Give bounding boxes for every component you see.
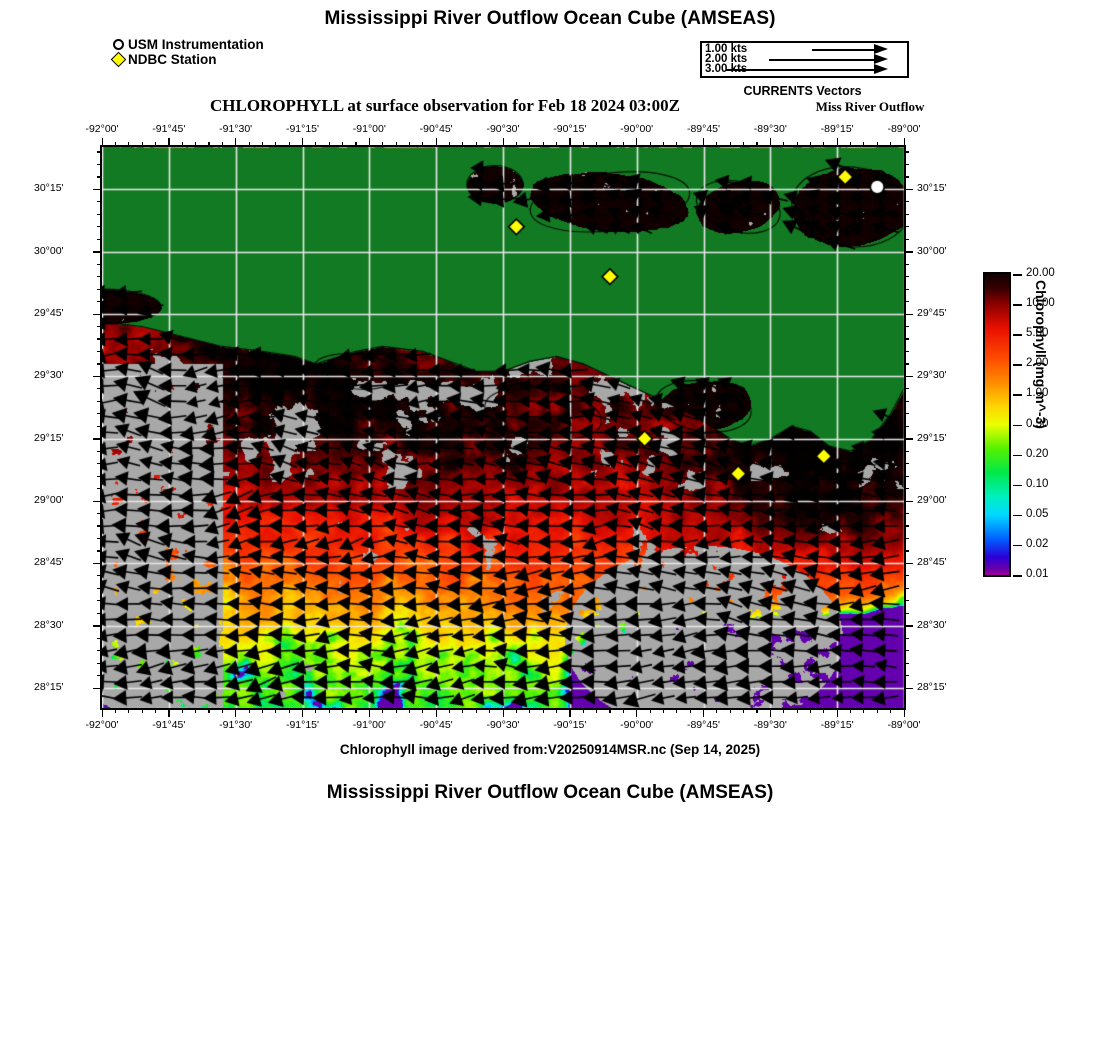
y-axis-minor-tick: [97, 675, 102, 676]
x-axis-minor-tick: [730, 708, 731, 713]
x-axis-label-bottom: -89°15': [807, 719, 867, 731]
x-axis-label-bottom: -91°45': [139, 719, 199, 731]
y-axis-minor-tick: [904, 426, 909, 427]
y-axis-minor-tick: [97, 451, 102, 452]
x-axis-minor-tick: [810, 708, 811, 713]
x-axis-label-bottom: -89°30': [740, 719, 800, 731]
x-axis-minor-tick: [823, 708, 824, 713]
y-axis-minor-tick: [904, 164, 909, 165]
x-axis-major-tick: [168, 138, 169, 147]
x-axis-major-tick: [102, 138, 103, 147]
x-axis-major-tick: [703, 138, 704, 147]
page-title-bottom: Mississippi River Outflow Ocean Cube (AM…: [0, 782, 1100, 804]
x-axis-major-tick: [837, 138, 838, 147]
y-axis-minor-tick: [904, 276, 909, 277]
y-axis-minor-tick: [904, 239, 909, 240]
y-axis-minor-tick: [904, 588, 909, 589]
currents-key-arrowhead: [874, 54, 888, 64]
x-axis-minor-tick: [556, 142, 557, 147]
y-axis-minor-tick: [97, 363, 102, 364]
x-axis-major-tick: [102, 708, 103, 717]
y-axis-minor-tick: [904, 663, 909, 664]
currents-key-row: 3.00 kts: [702, 64, 907, 75]
x-axis-label-top: -91°15': [273, 123, 333, 135]
y-axis-minor-tick: [904, 613, 909, 614]
x-axis-label-top: -90°45': [406, 123, 466, 135]
colorbar-tick: [1013, 455, 1022, 457]
x-axis-minor-tick: [890, 142, 891, 147]
x-axis-label-top: -92°00': [72, 123, 132, 135]
x-axis-label-bottom: -91°00': [339, 719, 399, 731]
x-axis-minor-tick: [823, 142, 824, 147]
x-axis-label-bottom: -90°15': [540, 719, 600, 731]
x-axis-label-top: -90°00': [607, 123, 667, 135]
map-plot-area[interactable]: [100, 145, 906, 710]
y-axis-major-tick: [93, 501, 102, 502]
x-axis-minor-tick: [850, 142, 851, 147]
y-axis-major-tick: [904, 189, 913, 190]
y-axis-minor-tick: [904, 650, 909, 651]
x-axis-minor-tick: [262, 708, 263, 713]
y-axis-minor-tick: [97, 201, 102, 202]
y-axis-minor-tick: [904, 513, 909, 514]
x-axis-minor-tick: [195, 708, 196, 713]
legend-label-usm: USM Instrumentation: [128, 37, 264, 52]
x-axis-major-tick: [569, 708, 570, 717]
y-axis-minor-tick: [904, 413, 909, 414]
colorbar-tick-label: 20.00: [1026, 267, 1055, 279]
x-axis-minor-tick: [142, 708, 143, 713]
y-axis-minor-tick: [904, 226, 909, 227]
x-axis-minor-tick: [275, 708, 276, 713]
y-axis-major-tick: [93, 376, 102, 377]
x-axis-minor-tick: [115, 142, 116, 147]
x-axis-minor-tick: [382, 142, 383, 147]
colorbar-tick: [1013, 515, 1022, 517]
colorbar-tick-label: 0.01: [1026, 568, 1048, 580]
y-axis-minor-tick: [904, 600, 909, 601]
x-axis-minor-tick: [262, 142, 263, 147]
y-axis-label-right: 29°45': [917, 307, 947, 319]
y-axis-minor-tick: [904, 151, 909, 152]
y-axis-label-left: 29°00': [34, 494, 64, 506]
y-axis-minor-tick: [97, 613, 102, 614]
x-axis-minor-tick: [863, 142, 864, 147]
x-axis-minor-tick: [529, 708, 530, 713]
y-axis-minor-tick: [97, 488, 102, 489]
y-axis-minor-tick: [904, 488, 909, 489]
y-axis-minor-tick: [904, 575, 909, 576]
x-axis-label-bottom: -92°00': [72, 719, 132, 731]
y-axis-minor-tick: [904, 201, 909, 202]
colorbar-tick-label: 0.05: [1026, 508, 1048, 520]
x-axis-minor-tick: [396, 708, 397, 713]
y-axis-minor-tick: [904, 264, 909, 265]
colorbar-tick-label: 10.00: [1026, 297, 1055, 309]
x-axis-minor-tick: [409, 708, 410, 713]
colorbar-tick-label: 2.00: [1026, 357, 1048, 369]
x-axis-minor-tick: [195, 142, 196, 147]
y-axis-label-right: 28°30': [917, 619, 947, 631]
chart-subtitle: CHLOROPHYLL at surface observation for F…: [100, 96, 790, 116]
x-axis-minor-tick: [623, 142, 624, 147]
x-axis-minor-tick: [315, 708, 316, 713]
x-axis-major-tick: [770, 138, 771, 147]
x-axis-minor-tick: [155, 142, 156, 147]
x-axis-minor-tick: [222, 142, 223, 147]
x-axis-major-tick: [703, 708, 704, 717]
x-axis-label-bottom: -90°00': [607, 719, 667, 731]
x-axis-minor-tick: [396, 142, 397, 147]
y-axis-major-tick: [93, 563, 102, 564]
y-axis-minor-tick: [97, 600, 102, 601]
x-axis-major-tick: [302, 708, 303, 717]
x-axis-minor-tick: [716, 708, 717, 713]
x-axis-minor-tick: [797, 142, 798, 147]
x-axis-minor-tick: [489, 708, 490, 713]
y-axis-minor-tick: [904, 326, 909, 327]
y-axis-label-right: 29°30': [917, 369, 947, 381]
x-axis-minor-tick: [596, 142, 597, 147]
x-axis-label-top: -91°00': [339, 123, 399, 135]
y-axis-minor-tick: [904, 401, 909, 402]
y-axis-major-tick: [93, 314, 102, 315]
y-axis-minor-tick: [97, 351, 102, 352]
x-axis-label-bottom: -89°00': [874, 719, 934, 731]
x-axis-minor-tick: [583, 708, 584, 713]
y-axis-minor-tick: [97, 550, 102, 551]
x-axis-minor-tick: [182, 142, 183, 147]
x-axis-minor-tick: [783, 708, 784, 713]
colorbar: [983, 272, 1011, 577]
y-axis-minor-tick: [97, 264, 102, 265]
y-axis-major-tick: [904, 563, 913, 564]
x-axis-label-top: -91°45': [139, 123, 199, 135]
x-axis-label-top: -89°15': [807, 123, 867, 135]
colorbar-tick: [1013, 334, 1022, 336]
x-axis-minor-tick: [315, 142, 316, 147]
x-axis-minor-tick: [810, 142, 811, 147]
x-axis-major-tick: [369, 708, 370, 717]
y-axis-minor-tick: [97, 650, 102, 651]
x-axis-minor-tick: [382, 708, 383, 713]
colorbar-tick-label: 0.20: [1026, 448, 1048, 460]
x-axis-label-bottom: -91°15': [273, 719, 333, 731]
x-axis-minor-tick: [128, 142, 129, 147]
y-axis-minor-tick: [97, 176, 102, 177]
y-axis-minor-tick: [97, 164, 102, 165]
x-axis-minor-tick: [676, 708, 677, 713]
x-axis-minor-tick: [650, 708, 651, 713]
x-axis-major-tick: [636, 138, 637, 147]
y-axis-minor-tick: [904, 525, 909, 526]
y-axis-major-tick: [904, 688, 913, 689]
x-axis-major-tick: [904, 708, 905, 717]
y-axis-label-right: 30°00': [917, 245, 947, 257]
circle-marker-icon: [112, 39, 125, 50]
x-axis-label-bottom: -90°30': [473, 719, 533, 731]
colorbar-tick: [1013, 394, 1022, 396]
x-axis-minor-tick: [529, 142, 530, 147]
x-axis-minor-tick: [249, 142, 250, 147]
y-axis-label-left: 30°15': [34, 182, 64, 194]
x-axis-minor-tick: [583, 142, 584, 147]
y-axis-major-tick: [904, 438, 913, 439]
y-axis-minor-tick: [904, 301, 909, 302]
page-title: Mississippi River Outflow Ocean Cube (AM…: [0, 8, 1100, 30]
x-axis-minor-tick: [342, 708, 343, 713]
x-axis-minor-tick: [743, 142, 744, 147]
x-axis-label-top: -90°30': [473, 123, 533, 135]
currents-key-caption: CURRENTS Vectors: [700, 84, 905, 98]
y-axis-label-left: 29°30': [34, 369, 64, 381]
y-axis-minor-tick: [904, 289, 909, 290]
x-axis-minor-tick: [756, 708, 757, 713]
x-axis-minor-tick: [609, 708, 610, 713]
x-axis-minor-tick: [663, 708, 664, 713]
y-axis-minor-tick: [97, 239, 102, 240]
data-source-note: Chlorophyll image derived from:V20250914…: [0, 742, 1100, 757]
currents-key-shaft: [769, 59, 874, 61]
y-axis-minor-tick: [904, 363, 909, 364]
y-axis-minor-tick: [97, 326, 102, 327]
x-axis-major-tick: [503, 138, 504, 147]
x-axis-major-tick: [503, 708, 504, 717]
y-axis-minor-tick: [97, 663, 102, 664]
x-axis-minor-tick: [543, 142, 544, 147]
x-axis-minor-tick: [596, 708, 597, 713]
x-axis-minor-tick: [182, 708, 183, 713]
x-axis-minor-tick: [730, 142, 731, 147]
y-axis-minor-tick: [97, 226, 102, 227]
x-axis-minor-tick: [516, 708, 517, 713]
x-axis-minor-tick: [422, 708, 423, 713]
x-axis-minor-tick: [142, 142, 143, 147]
chlorophyll-raster: [102, 147, 904, 708]
y-axis-minor-tick: [904, 214, 909, 215]
colorbar-tick-label: 5.00: [1026, 327, 1048, 339]
x-axis-minor-tick: [556, 708, 557, 713]
x-axis-major-tick: [436, 138, 437, 147]
x-axis-minor-tick: [890, 708, 891, 713]
x-axis-minor-tick: [115, 708, 116, 713]
currents-key-arrowhead: [874, 44, 888, 54]
legend-item-usm: USM Instrumentation: [112, 37, 264, 52]
y-axis-label-right: 29°15': [917, 432, 947, 444]
y-axis-minor-tick: [97, 476, 102, 477]
x-axis-minor-tick: [476, 708, 477, 713]
x-axis-minor-tick: [275, 142, 276, 147]
y-axis-major-tick: [904, 376, 913, 377]
x-axis-minor-tick: [449, 142, 450, 147]
y-axis-minor-tick: [97, 575, 102, 576]
y-axis-minor-tick: [97, 301, 102, 302]
y-axis-minor-tick: [904, 176, 909, 177]
x-axis-minor-tick: [155, 708, 156, 713]
y-axis-minor-tick: [904, 463, 909, 464]
colorbar-tick-label: 0.50: [1026, 418, 1048, 430]
x-axis-label-top: -91°30': [206, 123, 266, 135]
x-axis-minor-tick: [690, 708, 691, 713]
y-axis-minor-tick: [97, 338, 102, 339]
x-axis-minor-tick: [623, 708, 624, 713]
x-axis-minor-tick: [783, 142, 784, 147]
x-axis-minor-tick: [462, 708, 463, 713]
y-axis-major-tick: [904, 314, 913, 315]
x-axis-major-tick: [235, 708, 236, 717]
y-axis-major-tick: [93, 625, 102, 626]
colorbar-tick: [1013, 545, 1022, 547]
x-axis-minor-tick: [422, 142, 423, 147]
x-axis-minor-tick: [863, 708, 864, 713]
y-axis-major-tick: [904, 251, 913, 252]
diamond-marker-icon: [112, 54, 125, 65]
x-axis-major-tick: [168, 708, 169, 717]
y-axis-minor-tick: [97, 426, 102, 427]
x-axis-minor-tick: [249, 708, 250, 713]
colorbar-gradient: [985, 274, 1009, 575]
x-axis-minor-tick: [743, 708, 744, 713]
y-axis-minor-tick: [97, 413, 102, 414]
x-axis-minor-tick: [222, 708, 223, 713]
y-axis-minor-tick: [904, 338, 909, 339]
x-axis-major-tick: [369, 138, 370, 147]
y-axis-label-right: 28°45': [917, 556, 947, 568]
y-axis-label-left: 28°45': [34, 556, 64, 568]
y-axis-minor-tick: [904, 550, 909, 551]
x-axis-label-top: -89°45': [674, 123, 734, 135]
x-axis-major-tick: [569, 138, 570, 147]
colorbar-tick: [1013, 364, 1022, 366]
x-axis-label-bottom: -90°45': [406, 719, 466, 731]
x-axis-minor-tick: [208, 142, 209, 147]
x-axis-major-tick: [636, 708, 637, 717]
x-axis-minor-tick: [289, 708, 290, 713]
y-axis-label-left: 29°45': [34, 307, 64, 319]
y-axis-label-left: 30°00': [34, 245, 64, 257]
x-axis-minor-tick: [716, 142, 717, 147]
x-axis-label-top: -90°15': [540, 123, 600, 135]
x-axis-minor-tick: [409, 142, 410, 147]
x-axis-minor-tick: [355, 142, 356, 147]
currents-key-shaft: [812, 49, 874, 51]
y-axis-minor-tick: [904, 451, 909, 452]
x-axis-minor-tick: [329, 142, 330, 147]
colorbar-tick-label: 1.00: [1026, 387, 1048, 399]
x-axis-label-top: -89°00': [874, 123, 934, 135]
x-axis-minor-tick: [476, 142, 477, 147]
x-axis-minor-tick: [676, 142, 677, 147]
y-axis-minor-tick: [97, 525, 102, 526]
panel-region-label: Miss River Outflow: [770, 99, 970, 115]
x-axis-major-tick: [904, 138, 905, 147]
x-axis-minor-tick: [543, 708, 544, 713]
colorbar-tick: [1013, 485, 1022, 487]
x-axis-minor-tick: [690, 142, 691, 147]
y-axis-label-right: 28°15': [917, 681, 947, 693]
y-axis-major-tick: [93, 438, 102, 439]
colorbar-tick: [1013, 274, 1022, 276]
x-axis-minor-tick: [663, 142, 664, 147]
x-axis-minor-tick: [208, 708, 209, 713]
currents-key-arrowhead: [874, 64, 888, 74]
y-axis-minor-tick: [904, 538, 909, 539]
x-axis-minor-tick: [462, 142, 463, 147]
colorbar-tick-label: 0.10: [1026, 478, 1048, 490]
y-axis-label-left: 28°30': [34, 619, 64, 631]
y-axis-minor-tick: [97, 151, 102, 152]
marker-legend: USM Instrumentation NDBC Station: [112, 37, 264, 67]
x-axis-minor-tick: [877, 142, 878, 147]
y-axis-minor-tick: [904, 351, 909, 352]
x-axis-major-tick: [302, 138, 303, 147]
y-axis-label-left: 28°15': [34, 681, 64, 693]
x-axis-minor-tick: [329, 708, 330, 713]
x-axis-minor-tick: [449, 708, 450, 713]
x-axis-minor-tick: [516, 142, 517, 147]
y-axis-major-tick: [904, 501, 913, 502]
colorbar-tick-label: 0.02: [1026, 538, 1048, 550]
x-axis-label-top: -89°30': [740, 123, 800, 135]
y-axis-minor-tick: [904, 476, 909, 477]
y-axis-major-tick: [93, 189, 102, 190]
y-axis-minor-tick: [97, 588, 102, 589]
y-axis-minor-tick: [97, 513, 102, 514]
y-axis-label-right: 30°15': [917, 182, 947, 194]
x-axis-major-tick: [770, 708, 771, 717]
y-axis-major-tick: [904, 625, 913, 626]
x-axis-minor-tick: [342, 142, 343, 147]
y-axis-minor-tick: [904, 675, 909, 676]
colorbar-tick: [1013, 575, 1022, 577]
x-axis-minor-tick: [756, 142, 757, 147]
x-axis-label-bottom: -91°30': [206, 719, 266, 731]
x-axis-minor-tick: [850, 708, 851, 713]
colorbar-tick: [1013, 425, 1022, 427]
y-axis-label-right: 29°00': [917, 494, 947, 506]
y-axis-minor-tick: [97, 401, 102, 402]
x-axis-minor-tick: [289, 142, 290, 147]
y-axis-minor-tick: [97, 214, 102, 215]
x-axis-minor-tick: [489, 142, 490, 147]
x-axis-minor-tick: [128, 708, 129, 713]
x-axis-major-tick: [436, 708, 437, 717]
y-axis-minor-tick: [97, 463, 102, 464]
legend-item-ndbc: NDBC Station: [112, 52, 264, 67]
x-axis-minor-tick: [877, 708, 878, 713]
x-axis-major-tick: [837, 708, 838, 717]
y-axis-major-tick: [93, 688, 102, 689]
x-axis-major-tick: [235, 138, 236, 147]
y-axis-minor-tick: [97, 289, 102, 290]
y-axis-major-tick: [93, 251, 102, 252]
y-axis-minor-tick: [904, 388, 909, 389]
currents-key-shaft: [726, 69, 874, 71]
y-axis-minor-tick: [97, 638, 102, 639]
currents-scale-key: 1.00 kts2.00 kts3.00 kts: [700, 41, 909, 78]
x-axis-label-bottom: -89°45': [674, 719, 734, 731]
x-axis-minor-tick: [355, 708, 356, 713]
x-axis-minor-tick: [650, 142, 651, 147]
y-axis-minor-tick: [904, 638, 909, 639]
y-axis-minor-tick: [97, 538, 102, 539]
colorbar-tick: [1013, 304, 1022, 306]
y-axis-label-left: 29°15': [34, 432, 64, 444]
y-axis-minor-tick: [97, 388, 102, 389]
y-axis-minor-tick: [97, 276, 102, 277]
legend-label-ndbc: NDBC Station: [128, 52, 217, 67]
x-axis-minor-tick: [609, 142, 610, 147]
